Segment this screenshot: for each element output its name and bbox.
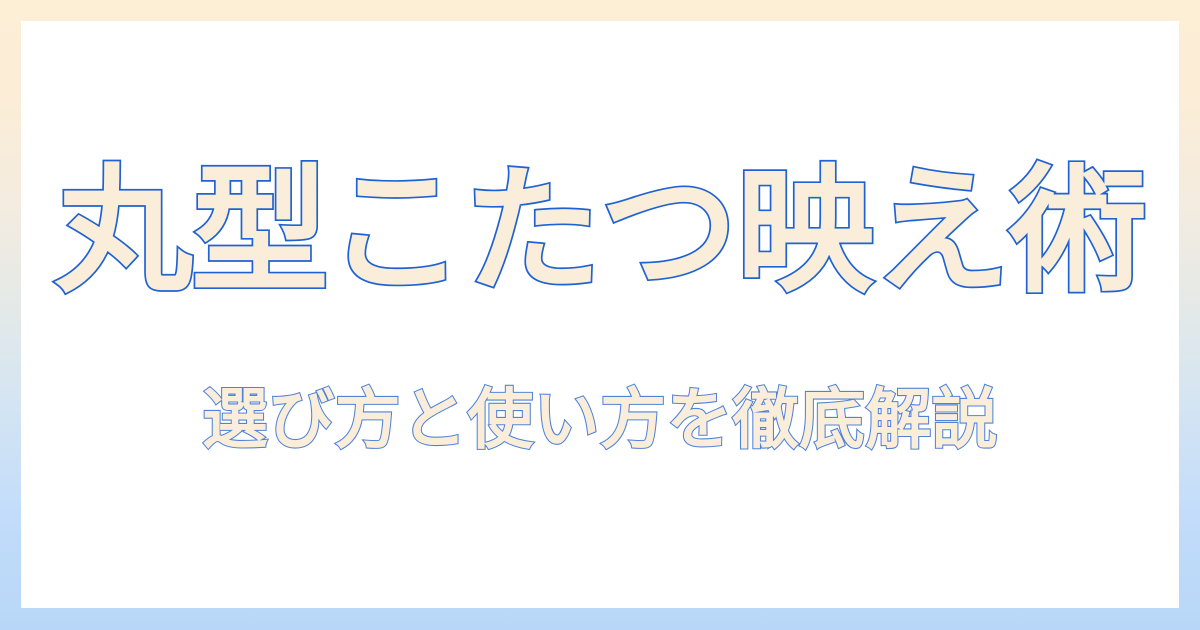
text-stack: 丸型こたつ映え術 選び方と使い方を徹底解説 <box>21 21 1179 608</box>
white-card: 丸型こたつ映え術 選び方と使い方を徹底解説 <box>21 21 1179 608</box>
banner-subtitle: 選び方と使い方を徹底解説 <box>202 385 998 454</box>
banner-title: 丸型こたつ映え術 <box>55 162 1146 303</box>
banner-canvas: 丸型こたつ映え術 選び方と使い方を徹底解説 <box>0 0 1200 630</box>
